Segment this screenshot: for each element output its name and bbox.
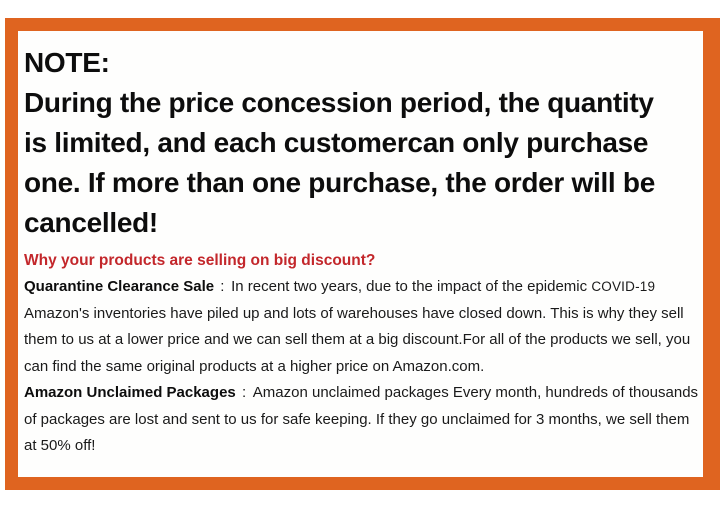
note-heading-block: NOTE: During the price concession period… [24,43,699,243]
note-heading-line-4: one. If more than one purchase, the orde… [24,163,699,203]
note-callout-box: NOTE: During the price concession period… [5,18,720,490]
paragraph-amazon-unclaimed-packages: Amazon Unclaimed Packages : Amazon uncla… [24,380,699,460]
discount-question-subheading: Why your products are selling on big dis… [24,248,699,274]
paragraph-quarantine-clearance-sale: Quarantine Clearance Sale : In recent tw… [24,274,699,380]
paragraph-text-part-1: In recent two years, due to the impact o… [231,278,591,295]
page-root: NOTE: During the price concession period… [0,0,720,514]
note-content: NOTE: During the price concession period… [18,31,703,477]
note-heading-line-5: cancelled! [24,203,699,243]
paragraph-lead-in-label: Amazon Unclaimed Packages [24,384,236,401]
note-heading-line-3: is limited, and each customercan only pu… [24,123,699,163]
note-heading-line-2: During the price concession period, the … [24,83,699,123]
paragraph-text-part-2: Amazon's inventories have piled up and l… [24,305,690,375]
paragraph-text-part-1: Amazon unclaimed packages [253,384,449,401]
note-heading-line-1: NOTE: [24,43,699,83]
covid-19-label: COVID-19 [591,279,655,294]
paragraph-lead-in-label: Quarantine Clearance Sale [24,278,214,295]
